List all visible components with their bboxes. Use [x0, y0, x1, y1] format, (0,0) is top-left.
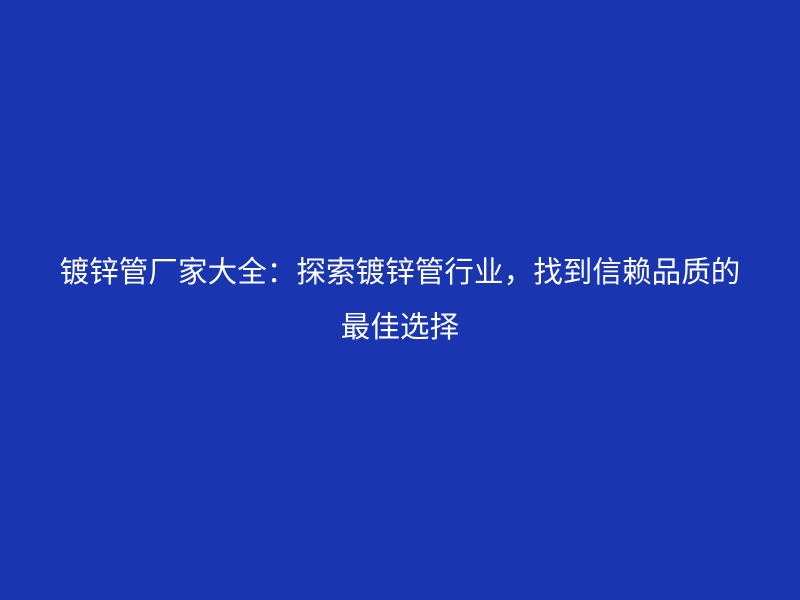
banner-container: 镀锌管厂家大全：探索镀锌管行业，找到信赖品质的最佳选择	[0, 0, 800, 600]
banner-title: 镀锌管厂家大全：探索镀锌管行业，找到信赖品质的最佳选择	[48, 245, 753, 355]
banner-content: 镀锌管厂家大全：探索镀锌管行业，找到信赖品质的最佳选择	[40, 245, 760, 355]
